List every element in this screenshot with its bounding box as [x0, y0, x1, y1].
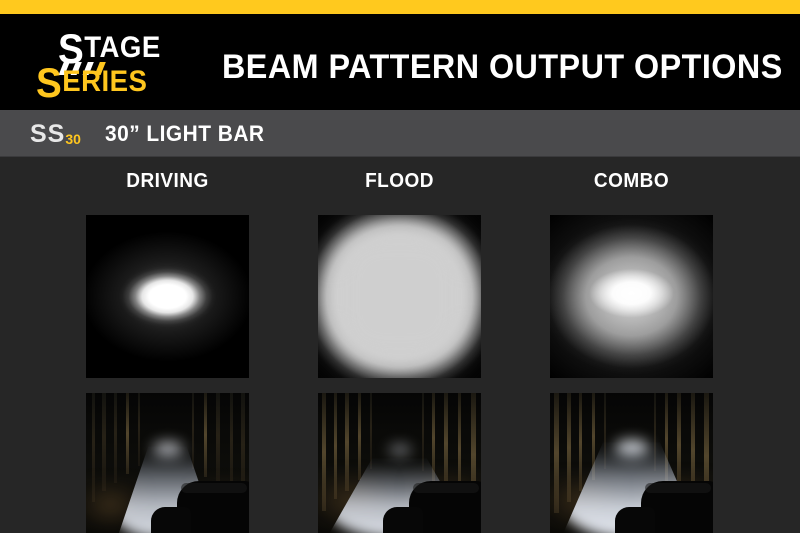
flood-beam-gradient — [318, 215, 481, 378]
driving-road-photo — [86, 393, 249, 533]
ss-badge-text: SS — [30, 120, 65, 148]
flood-beam-pattern — [318, 215, 481, 378]
page-title: BEAM PATTERN OUTPUT OPTIONS — [222, 48, 783, 87]
column-title-driving: DRIVING — [90, 170, 245, 193]
logo-series-rest: ERIES — [62, 65, 147, 98]
stage-series-logo: STAGE SERIES — [28, 26, 188, 100]
column-title-flood: FLOOD — [322, 170, 477, 193]
combo-beam-pattern — [550, 215, 713, 378]
combo-beam-gradient — [550, 215, 713, 378]
logo-series-word: SERIES — [36, 62, 147, 104]
vehicle-hood — [641, 481, 713, 533]
flood-road-photo — [318, 393, 481, 533]
driving-beam-gradient — [86, 215, 249, 378]
ss-badge-subscript: 30 — [65, 131, 81, 147]
product-subtitle: 30” LIGHT BAR — [105, 123, 264, 145]
driving-beam-pattern — [86, 215, 249, 378]
logo-stage-rest: TAGE — [84, 31, 160, 64]
logo-series-initial: S — [36, 59, 62, 106]
vehicle-hood — [177, 481, 249, 533]
combo-road-photo — [550, 393, 713, 533]
ss30-badge: SS30 — [30, 122, 81, 147]
top-accent-rule — [0, 0, 800, 14]
vehicle-hood — [409, 481, 481, 533]
beam-comparison-body: DRIVING — [0, 157, 800, 533]
column-title-combo: COMBO — [554, 170, 709, 193]
